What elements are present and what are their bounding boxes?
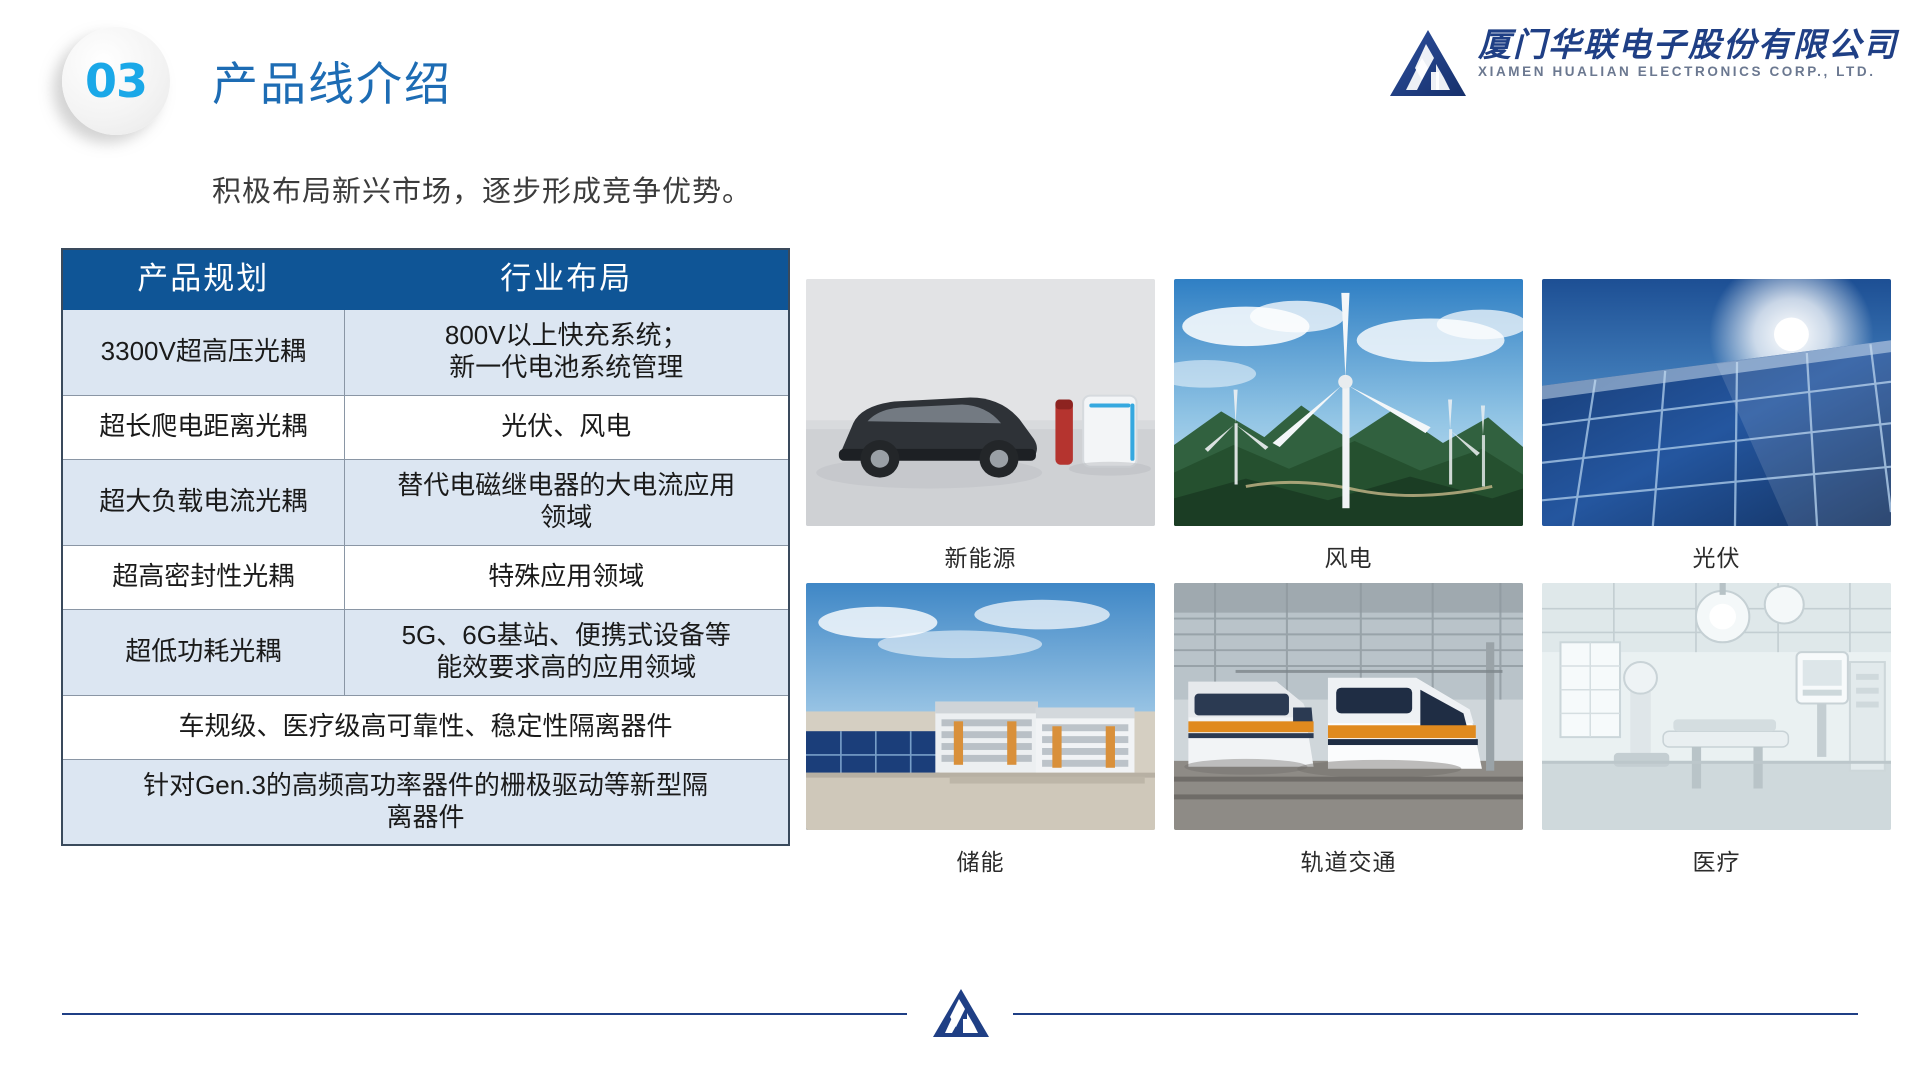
high-speed-train-photo bbox=[1174, 583, 1523, 830]
gallery-item: 新能源 bbox=[806, 279, 1155, 573]
footer-divider-right bbox=[1013, 1013, 1858, 1015]
table-row: 超大负载电流光耦 替代电磁继电器的大电流应用 领域 bbox=[62, 459, 789, 545]
gallery-item: 储能 bbox=[806, 583, 1155, 877]
product-roadmap-table: 产品规划 行业布局 3300V超高压光耦 800V以上快充系统； 新一代电池系统… bbox=[61, 248, 790, 846]
gallery-caption: 储能 bbox=[957, 843, 1005, 877]
footer-divider-left bbox=[62, 1013, 907, 1015]
table-body: 3300V超高压光耦 800V以上快充系统； 新一代电池系统管理 超长爬电距离光… bbox=[62, 309, 789, 845]
energy-storage-container-photo bbox=[806, 583, 1155, 830]
table-row: 超长爬电距离光耦 光伏、风电 bbox=[62, 395, 789, 459]
gallery-caption: 风电 bbox=[1325, 539, 1373, 573]
hospital-operating-room-photo bbox=[1542, 583, 1891, 830]
cell-product-plan: 超大负载电流光耦 bbox=[62, 459, 344, 545]
slide-canvas: 03 产品线介绍 积极布局新兴市场，逐步形成竞争优势。 厦门华联电子股份有限公司… bbox=[0, 0, 1920, 1080]
gallery-caption: 新能源 bbox=[945, 539, 1017, 573]
cell-product-plan: 超高密封性光耦 bbox=[62, 545, 344, 609]
gallery-item: 风电 bbox=[1174, 279, 1523, 573]
wind-turbine-mountain-photo bbox=[1174, 279, 1523, 526]
cell-industry-layout: 替代电磁继电器的大电流应用 领域 bbox=[344, 459, 789, 545]
company-logo: 厦门华联电子股份有限公司 XIAMEN HUALIAN ELECTRONICS … bbox=[1384, 28, 1898, 100]
slide-footer bbox=[0, 984, 1920, 1044]
gallery-caption: 光伏 bbox=[1693, 539, 1741, 573]
table-row-full-width: 车规级、医疗级高可靠性、稳定性隔离器件 bbox=[62, 695, 789, 759]
page-subtitle: 积极布局新兴市场，逐步形成竞争优势。 bbox=[212, 168, 752, 210]
industry-image-gallery: 新能源 bbox=[806, 279, 1891, 877]
gallery-item: 轨道交通 bbox=[1174, 583, 1523, 877]
cell-industry-layout: 光伏、风电 bbox=[344, 395, 789, 459]
hualian-h-mountain-logo-icon bbox=[929, 987, 991, 1041]
gallery-caption: 医疗 bbox=[1693, 843, 1741, 877]
section-number-badge: 03 bbox=[62, 27, 170, 135]
table-row: 3300V超高压光耦 800V以上快充系统； 新一代电池系统管理 bbox=[62, 309, 789, 395]
page-title: 产品线介绍 bbox=[212, 48, 452, 114]
cell-industry-layout: 特殊应用领域 bbox=[344, 545, 789, 609]
cell-full-span: 针对Gen.3的高频高功率器件的栅极驱动等新型隔 离器件 bbox=[62, 759, 789, 845]
logo-company-name-en: XIAMEN HUALIAN ELECTRONICS CORP., LTD. bbox=[1478, 64, 1898, 79]
cell-industry-layout: 800V以上快充系统； 新一代电池系统管理 bbox=[344, 309, 789, 395]
cell-full-span: 车规级、医疗级高可靠性、稳定性隔离器件 bbox=[62, 695, 789, 759]
cell-product-plan: 3300V超高压光耦 bbox=[62, 309, 344, 395]
gallery-item: 光伏 bbox=[1542, 279, 1891, 573]
table-row: 超高密封性光耦 特殊应用领域 bbox=[62, 545, 789, 609]
gallery-item: 医疗 bbox=[1542, 583, 1891, 877]
table-row-full-width: 针对Gen.3的高频高功率器件的栅极驱动等新型隔 离器件 bbox=[62, 759, 789, 845]
table-header-product-plan: 产品规划 bbox=[62, 249, 344, 309]
section-number-text: 03 bbox=[85, 58, 147, 104]
cell-product-plan: 超低功耗光耦 bbox=[62, 609, 344, 695]
hualian-h-mountain-logo-icon bbox=[1384, 28, 1468, 100]
gallery-caption: 轨道交通 bbox=[1301, 843, 1397, 877]
logo-company-name-cn: 厦门华联电子股份有限公司 bbox=[1478, 28, 1898, 63]
table-header-industry-layout: 行业布局 bbox=[344, 249, 789, 309]
table-row: 超低功耗光耦 5G、6G基站、便携式设备等 能效要求高的应用领域 bbox=[62, 609, 789, 695]
cell-industry-layout: 5G、6G基站、便携式设备等 能效要求高的应用领域 bbox=[344, 609, 789, 695]
ev-charging-station-photo bbox=[806, 279, 1155, 526]
table-header-row: 产品规划 行业布局 bbox=[62, 249, 789, 309]
cell-product-plan: 超长爬电距离光耦 bbox=[62, 395, 344, 459]
solar-panel-array-photo bbox=[1542, 279, 1891, 526]
